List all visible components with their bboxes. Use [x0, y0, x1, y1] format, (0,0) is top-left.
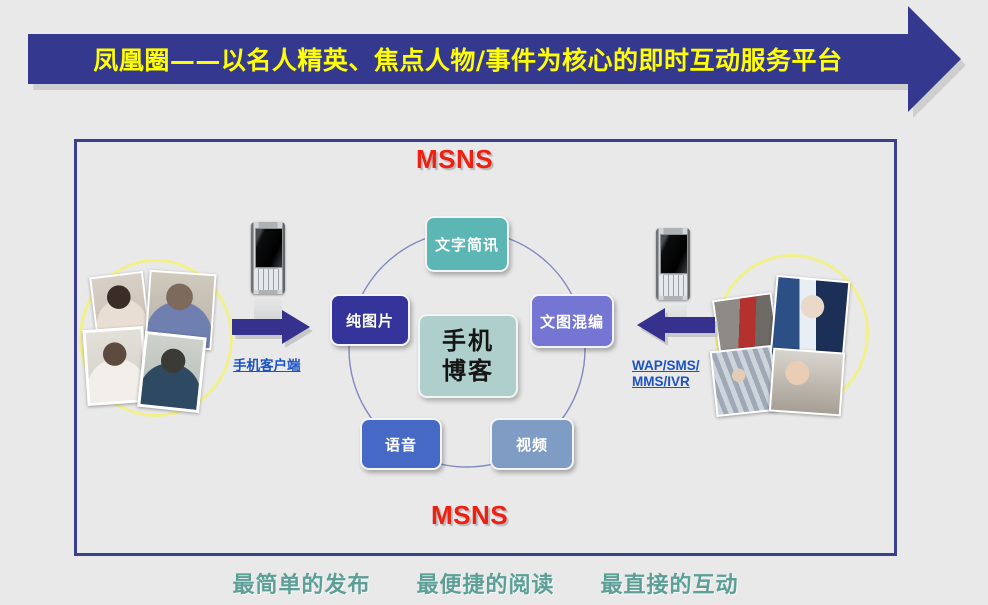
bottom-tagline: 最简单的发布 最便捷的阅读 最直接的互动 [74, 566, 897, 600]
node-mixed-media[interactable]: 文图混编 [530, 294, 614, 348]
right-channel-label[interactable]: WAP/SMS/ MMS/IVR [632, 358, 742, 390]
left-channel-label[interactable]: 手机客户端 [233, 358, 343, 374]
node-picture[interactable]: 纯图片 [330, 294, 410, 346]
node-voice[interactable]: 语音 [360, 418, 442, 470]
phone-screen [660, 234, 688, 274]
photo-thumbnail [137, 331, 207, 413]
msns-label-top: MSNS [416, 144, 493, 175]
right-channel-text-line1: WAP/SMS/ [632, 358, 742, 374]
mobile-phone-icon-left [251, 222, 285, 294]
right-photo-cluster [713, 278, 873, 418]
right-channel-text-line2: MMS/IVR [632, 374, 742, 390]
node-video[interactable]: 视频 [490, 418, 574, 470]
arrow-right-icon [232, 310, 310, 344]
msns-label-bottom: MSNS [431, 500, 508, 531]
tagline-item-1: 最简单的发布 [232, 567, 370, 599]
page-title: 凤凰圈——以名人精英、焦点人物/事件为核心的即时互动服务平台 [28, 34, 908, 84]
mobile-phone-icon-right [656, 228, 690, 300]
tagline-item-2: 最便捷的阅读 [416, 567, 554, 599]
phone-keypad [659, 275, 687, 296]
phone-screen [255, 228, 283, 268]
node-text-sms[interactable]: 文字简讯 [425, 216, 509, 272]
arrow-left-icon [637, 308, 715, 342]
photo-thumbnail [769, 348, 845, 417]
center-node-line1: 手机 [442, 326, 494, 356]
center-node-line2: 博客 [442, 356, 494, 386]
center-node-mobile-blog[interactable]: 手机 博客 [418, 314, 518, 398]
slide-canvas: 凤凰圈——以名人精英、焦点人物/事件为核心的即时互动服务平台 MSNS 手机客户… [0, 0, 988, 605]
tagline-item-3: 最直接的互动 [601, 567, 739, 599]
phone-keypad [254, 269, 282, 290]
left-photo-cluster [85, 272, 245, 412]
left-channel-text: 手机客户端 [233, 358, 343, 374]
header-banner: 凤凰圈——以名人精英、焦点人物/事件为核心的即时互动服务平台 [28, 6, 966, 118]
